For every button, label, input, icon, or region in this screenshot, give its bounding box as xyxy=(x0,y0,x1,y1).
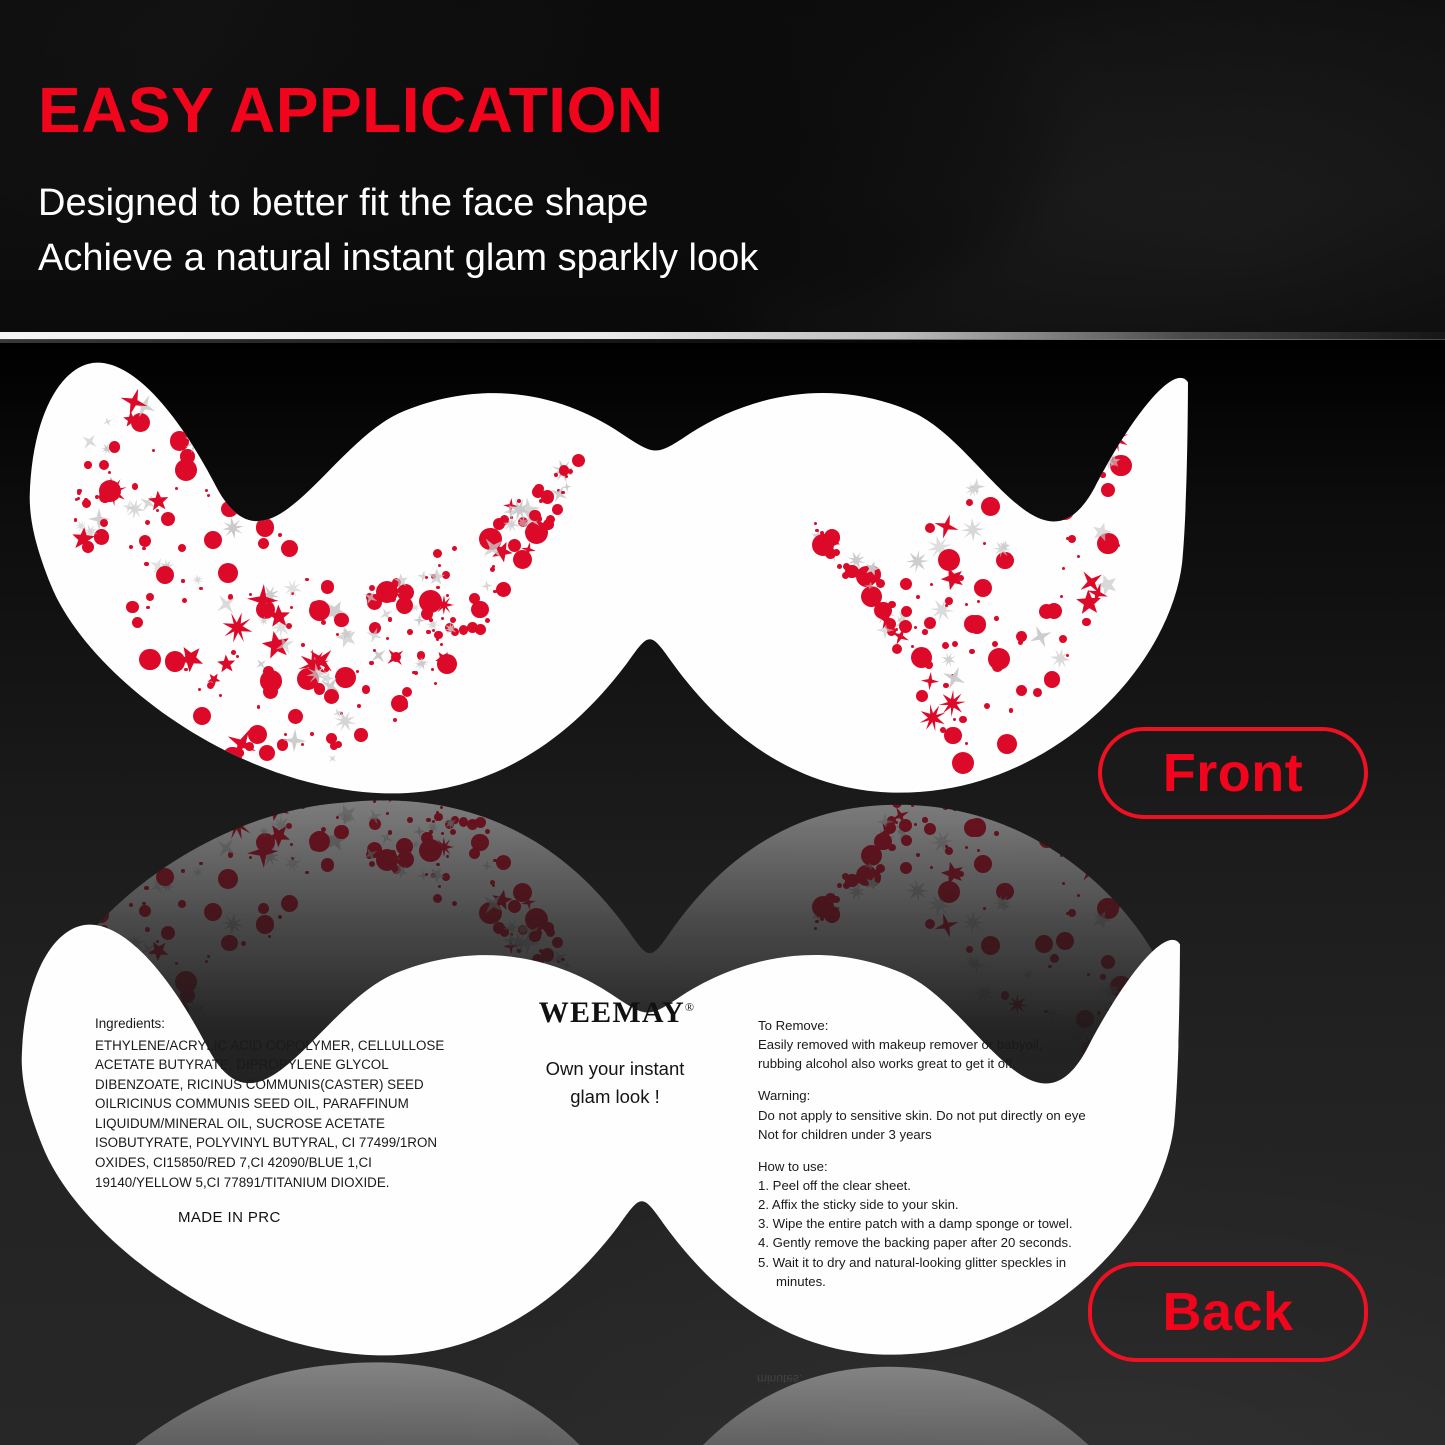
brand-logo: WEEMAY® xyxy=(517,996,717,1030)
header-text-block: EASY APPLICATION Designed to better fit … xyxy=(38,78,1405,285)
how-to-use-step-4: 5. Wait it to dry and natural-looking gl… xyxy=(758,1253,1103,1272)
to-remove-block: To Remove: Easily removed with makeup re… xyxy=(758,1016,1103,1073)
how-to-use-step-0: 1. Peel off the clear sheet. xyxy=(758,1176,1103,1195)
brand-name: WEEMAY xyxy=(539,996,685,1029)
header-subtitle-line-2: Achieve a natural instant glam sparkly l… xyxy=(38,231,1405,286)
status-badge-back: Back xyxy=(1088,1262,1368,1362)
tagline-line-2: glam look ! xyxy=(500,1083,730,1111)
ingredients-line-0: ETHYLENE/ACRYLIC ACID COPOLYMER, CELLULL… xyxy=(95,1038,444,1053)
back-patch-reflection: minutes. xyxy=(10,1358,1180,1445)
usage-instructions-block: To Remove: Easily removed with makeup re… xyxy=(758,1016,1103,1291)
how-to-use-heading: How to use: xyxy=(758,1157,1103,1176)
page-title: EASY APPLICATION xyxy=(38,78,1405,142)
glitter-pattern xyxy=(18,356,1188,796)
header-divider-line xyxy=(0,332,1445,339)
reflected-ghost-text: minutes. xyxy=(757,1372,802,1386)
made-in-label: MADE IN PRC xyxy=(178,1209,281,1226)
warning-block: Warning: Do not apply to sensitive skin.… xyxy=(758,1086,1103,1143)
warning-line-0: Do not apply to sensitive skin. Do not p… xyxy=(758,1106,1103,1125)
ingredients-label: Ingredients: xyxy=(95,1014,455,1034)
how-to-use-step-2: 3. Wipe the entire patch with a damp spo… xyxy=(758,1214,1103,1233)
how-to-use-step-1: 2. Affix the sticky side to your skin. xyxy=(758,1195,1103,1214)
ingredients-line-6: 5,CI 77891/TITANIUM DIOXIDE. xyxy=(196,1175,390,1190)
ingredients-block: Ingredients: ETHYLENE/ACRYLIC ACID COPOL… xyxy=(95,1014,455,1192)
status-badge-front: Front xyxy=(1098,727,1368,819)
how-to-use-step-4-continuation: minutes. xyxy=(758,1272,1103,1291)
brand-tagline: Own your instant glam look ! xyxy=(500,1055,730,1111)
badge-front-label: Front xyxy=(1163,742,1303,804)
front-patch xyxy=(18,356,1188,796)
how-to-use-block: How to use: 1. Peel off the clear sheet.… xyxy=(758,1157,1103,1291)
registered-trademark-mark: ® xyxy=(685,1000,695,1014)
how-to-use-step-3: 4. Gently remove the backing paper after… xyxy=(758,1233,1103,1252)
badge-back-label: Back xyxy=(1162,1281,1293,1343)
warning-heading: Warning: xyxy=(758,1086,1103,1105)
to-remove-line-0: Easily removed with makeup remover or ba… xyxy=(758,1035,1103,1054)
to-remove-heading: To Remove: xyxy=(758,1016,1103,1035)
to-remove-line-1: rubbing alcohol also works great to get … xyxy=(758,1054,1103,1073)
product-infographic: EASY APPLICATION Designed to better fit … xyxy=(0,0,1445,1445)
warning-line-1: Not for children under 3 years xyxy=(758,1125,1103,1144)
front-patch-surface xyxy=(18,356,1188,796)
header-subtitle-line-1: Designed to better fit the face shape xyxy=(38,176,1405,231)
tagline-line-1: Own your instant xyxy=(500,1055,730,1083)
header-overlay-band: EASY APPLICATION Designed to better fit … xyxy=(0,0,1445,336)
